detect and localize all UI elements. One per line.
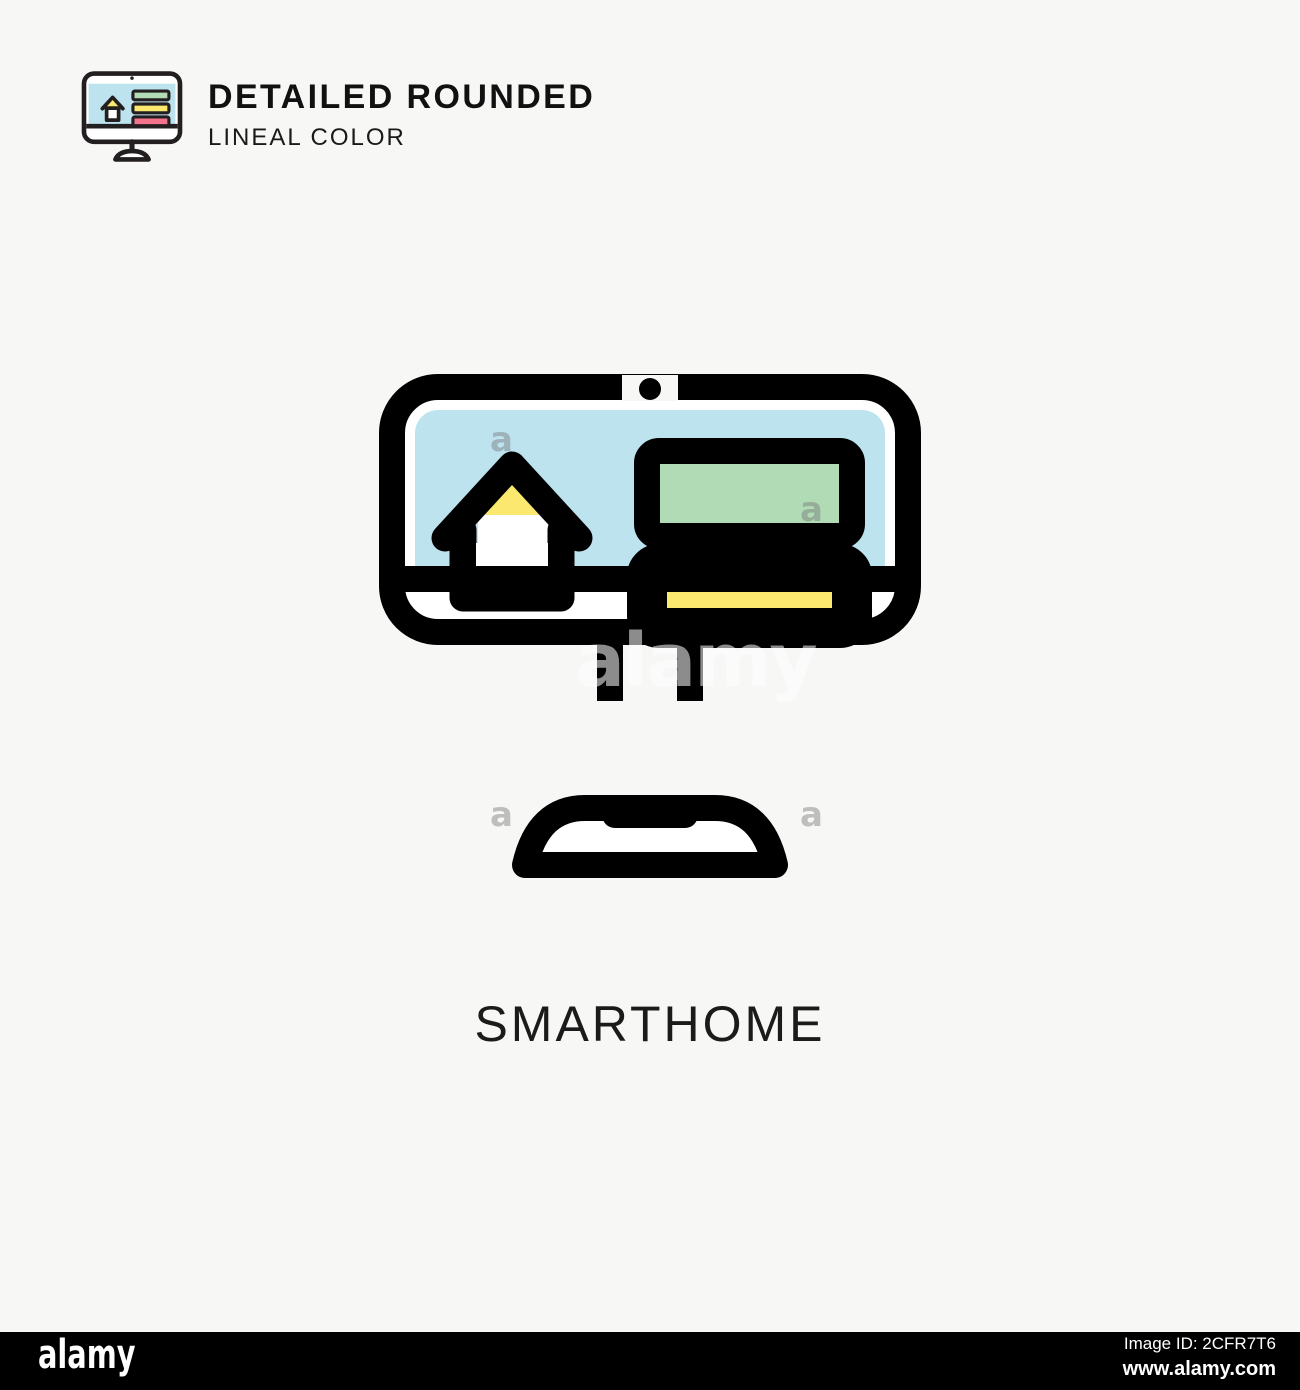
main-icon-container bbox=[0, 355, 1300, 900]
camera-dot bbox=[639, 378, 661, 400]
dashboard-bar-green bbox=[647, 451, 852, 536]
footer-bar: alamy Image ID: 2CFR7T6 www.alamy.com bbox=[0, 1332, 1300, 1390]
alamy-logo: alamy bbox=[38, 1334, 136, 1376]
header-title: DETAILED ROUNDED bbox=[208, 78, 595, 117]
header-smarthome-monitor-icon bbox=[78, 68, 186, 164]
footer-image-id: Image ID: 2CFR7T6 bbox=[1123, 1333, 1276, 1356]
footer-url[interactable]: www.alamy.com bbox=[1123, 1356, 1276, 1382]
header: DETAILED ROUNDED LINEAL COLOR bbox=[78, 68, 595, 164]
footer-meta: Image ID: 2CFR7T6 www.alamy.com bbox=[1123, 1333, 1276, 1382]
header-subtitle: LINEAL COLOR bbox=[208, 123, 595, 153]
header-text-block: DETAILED ROUNDED LINEAL COLOR bbox=[208, 68, 595, 153]
icon-caption: SMARTHOME bbox=[0, 995, 1300, 1053]
main-smarthome-monitor-icon bbox=[360, 355, 940, 900]
